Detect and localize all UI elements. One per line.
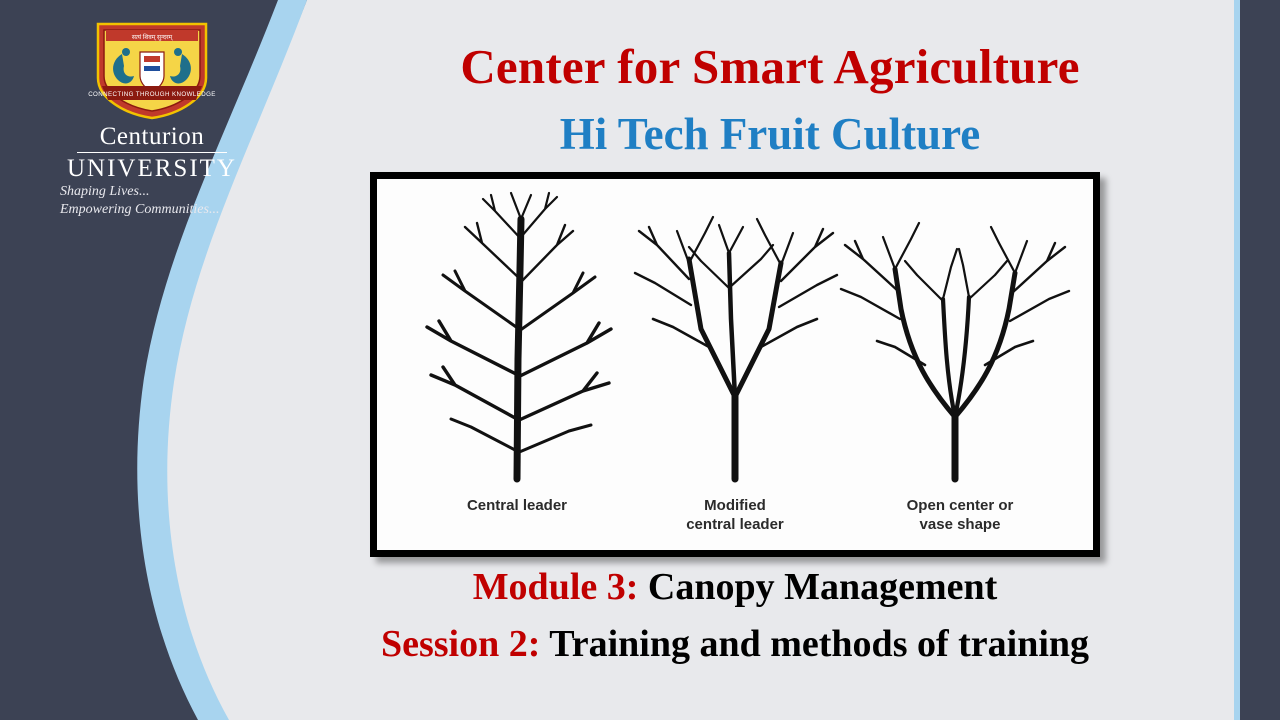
- session-title: Training and methods of training: [549, 623, 1089, 665]
- tree-caption-central-leader: Central leader: [417, 497, 617, 516]
- tagline-line1: Shaping Lives...: [60, 183, 262, 202]
- university-tagline: Shaping Lives... Empowering Communities.…: [42, 183, 262, 221]
- module-line: Module 3: Canopy Management: [230, 565, 1240, 609]
- slide-title-sub: Hi Tech Fruit Culture: [330, 108, 1210, 160]
- left-edge-bar: [0, 0, 22, 720]
- university-logo-block: सत्यं शिवम् सुन्दरम् CONNECTING THROUGH …: [42, 20, 262, 220]
- slide-canvas: सत्यं शिवम् सुन्दरम् CONNECTING THROUGH …: [0, 0, 1280, 720]
- name-divider: [77, 152, 227, 153]
- tree-training-systems-diagram: Central leader Modified central leader O…: [377, 179, 1093, 550]
- right-edge-bar: [1240, 0, 1280, 720]
- tagline-line2: Empowering Communities...: [60, 201, 262, 220]
- university-name: Centurion UNIVERSITY: [42, 124, 262, 183]
- tree-caption-open-center: Open center or vase shape: [855, 497, 1065, 535]
- svg-text:सत्यं शिवम् सुन्दरम्: सत्यं शिवम् सुन्दरम्: [132, 33, 173, 41]
- session-label: Session 2:: [381, 623, 540, 665]
- caption-line2: central leader: [635, 516, 835, 535]
- caption-line2: vase shape: [855, 516, 1065, 535]
- slide-title-main: Center for Smart Agriculture: [330, 38, 1210, 95]
- right-accent-stripe: [1234, 0, 1240, 720]
- university-name-line1: Centurion: [42, 124, 262, 150]
- figure-frame: Central leader Modified central leader O…: [370, 172, 1100, 557]
- university-name-line2: UNIVERSITY: [42, 156, 262, 182]
- tree-illustrations: [377, 179, 1093, 550]
- tree-caption-modified-central-leader: Modified central leader: [635, 497, 835, 535]
- university-crest-icon: सत्यं शिवम् सुन्दरम् CONNECTING THROUGH …: [88, 20, 216, 120]
- session-line: Session 2: Training and methods of train…: [230, 622, 1240, 666]
- module-label: Module 3:: [473, 566, 639, 608]
- caption-line1: Central leader: [417, 497, 617, 516]
- caption-line1: Modified: [635, 497, 835, 516]
- caption-line1: Open center or: [855, 497, 1065, 516]
- module-title: Canopy Management: [648, 566, 997, 608]
- svg-text:CONNECTING THROUGH KNOWLEDGE: CONNECTING THROUGH KNOWLEDGE: [88, 91, 216, 98]
